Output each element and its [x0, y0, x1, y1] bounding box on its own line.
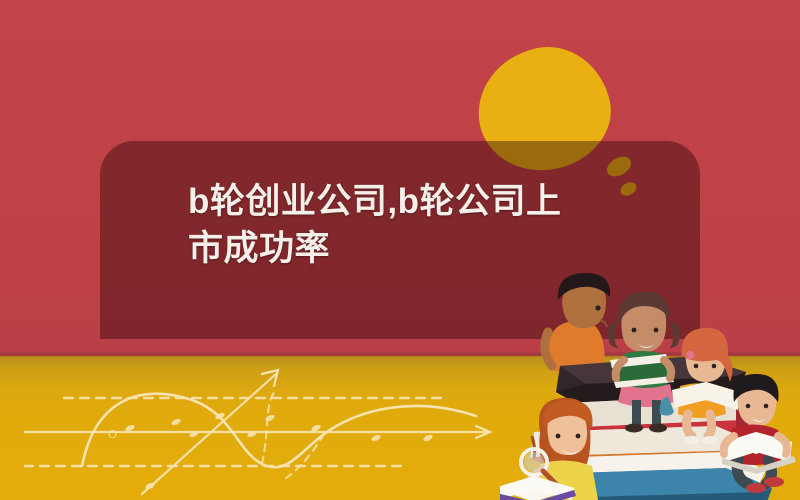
axis-tick-marks: O — [108, 412, 434, 491]
curve-dashed-branch-2 — [286, 434, 324, 478]
character-boy-orange-shirt — [545, 273, 610, 378]
sine-curve-graph: O — [24, 356, 564, 500]
sine-curve-path — [82, 394, 476, 468]
svg-text:O: O — [108, 428, 117, 441]
character-girl-yellow-magnifier — [500, 398, 598, 500]
curve-dashed-branch — [262, 390, 276, 464]
banner-image: b轮创业公司,b轮公司上 市成功率 — [0, 0, 800, 500]
children-reading-illustration — [500, 170, 800, 500]
